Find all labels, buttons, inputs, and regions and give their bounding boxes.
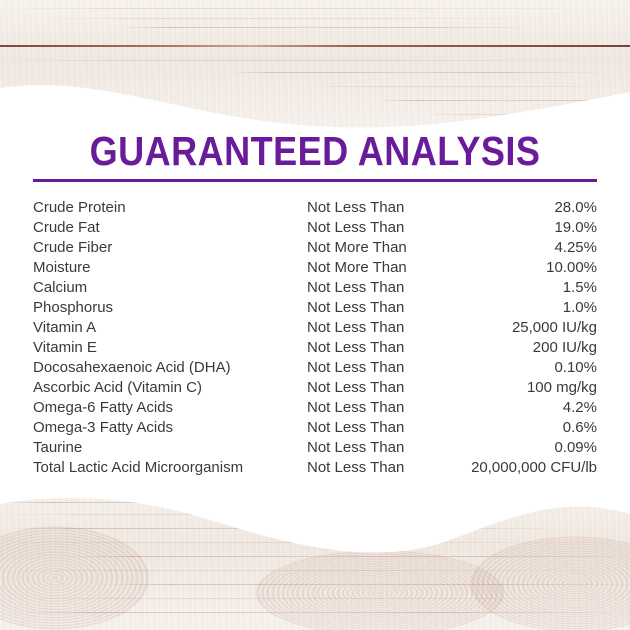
nutrient-value: 200 IU/kg [457,338,597,358]
wood-grain-line [0,514,510,515]
wood-grain-line [0,60,630,61]
nutrient-value: 100 mg/kg [457,378,597,398]
nutrient-label: Crude Fat [33,218,307,238]
table-row: PhosphorusNot Less Than1.0% [33,298,597,318]
wood-texture-top [0,0,630,130]
wood-grain-line [420,114,630,115]
wood-grain-line [120,27,540,28]
nutrient-label: Crude Fiber [33,238,307,258]
nutrient-value: 25,000 IU/kg [457,318,597,338]
nutrient-value: 0.09% [457,438,597,458]
nutrient-value: 20,000,000 CFU/lb [457,458,597,478]
wood-plank-seam [0,45,630,47]
nutrient-label: Omega-6 Fatty Acids [33,398,307,418]
nutrient-label: Vitamin A [33,318,307,338]
nutrient-label: Phosphorus [33,298,307,318]
wood-grain-line [300,86,630,87]
qualifier-label: Not Less Than [307,198,457,218]
wood-texture-bottom [0,480,630,630]
nutrient-label: Moisture [33,258,307,278]
nutrient-value: 4.2% [457,398,597,418]
qualifier-label: Not Less Than [307,278,457,298]
nutrient-value: 19.0% [457,218,597,238]
table-row: Docosahexaenoic Acid (DHA)Not Less Than0… [33,358,597,378]
qualifier-label: Not Less Than [307,438,457,458]
nutrient-label: Taurine [33,438,307,458]
qualifier-label: Not Less Than [307,298,457,318]
table-row: Omega-6 Fatty AcidsNot Less Than4.2% [33,398,597,418]
table-row: Vitamin ENot Less Than200 IU/kg [33,338,597,358]
nutrient-label: Omega-3 Fatty Acids [33,418,307,438]
nutrient-label: Ascorbic Acid (Vitamin C) [33,378,307,398]
table-row: TaurineNot Less Than0.09% [33,438,597,458]
table-row: Crude FatNot Less Than19.0% [33,218,597,238]
nutrient-label: Docosahexaenoic Acid (DHA) [33,358,307,378]
wood-grain-line [0,8,630,9]
table-row: Total Lactic Acid MicroorganismNot Less … [33,458,597,478]
nutrient-value: 10.00% [457,258,597,278]
table-row: Vitamin ANot Less Than25,000 IU/kg [33,318,597,338]
table-row: MoistureNot More Than10.00% [33,258,597,278]
nutrient-value: 4.25% [457,238,597,258]
nutrient-value: 1.5% [457,278,597,298]
table-row: CalciumNot Less Than1.5% [33,278,597,298]
table-row: Omega-3 Fatty AcidsNot Less Than0.6% [33,418,597,438]
qualifier-label: Not Less Than [307,318,457,338]
nutrient-label: Total Lactic Acid Microorganism [33,458,307,478]
nutrient-label: Calcium [33,278,307,298]
wood-grain-line [380,100,630,101]
nutrient-label: Vitamin E [33,338,307,358]
title-underline-rule [33,179,597,182]
guaranteed-analysis-table: Crude ProteinNot Less Than28.0%Crude Fat… [33,198,597,478]
wood-knot [255,550,505,630]
qualifier-label: Not Less Than [307,378,457,398]
nutrient-value: 1.0% [457,298,597,318]
qualifier-label: Not Less Than [307,418,457,438]
wood-grain-line [0,502,460,503]
qualifier-label: Not Less Than [307,338,457,358]
qualifier-label: Not Less Than [307,458,457,478]
nutrient-label: Crude Protein [33,198,307,218]
wood-grain-line [230,72,610,73]
qualifier-label: Not Less Than [307,218,457,238]
qualifier-label: Not More Than [307,238,457,258]
guaranteed-analysis-panel: GUARANTEED ANALYSIS Crude ProteinNot Les… [0,0,630,630]
table-row: Ascorbic Acid (Vitamin C)Not Less Than10… [33,378,597,398]
qualifier-label: Not More Than [307,258,457,278]
wood-grain-line [40,18,560,19]
qualifier-label: Not Less Than [307,358,457,378]
wood-surface-top [0,0,630,130]
table-row: Crude ProteinNot Less Than28.0% [33,198,597,218]
nutrient-value: 0.6% [457,418,597,438]
table-row: Crude FiberNot More Than4.25% [33,238,597,258]
qualifier-label: Not Less Than [307,398,457,418]
wood-grain-line [10,528,570,529]
nutrient-value: 0.10% [457,358,597,378]
analysis-card: GUARANTEED ANALYSIS Crude ProteinNot Les… [0,118,630,493]
page-title: GUARANTEED ANALYSIS [38,128,592,174]
nutrient-value: 28.0% [457,198,597,218]
